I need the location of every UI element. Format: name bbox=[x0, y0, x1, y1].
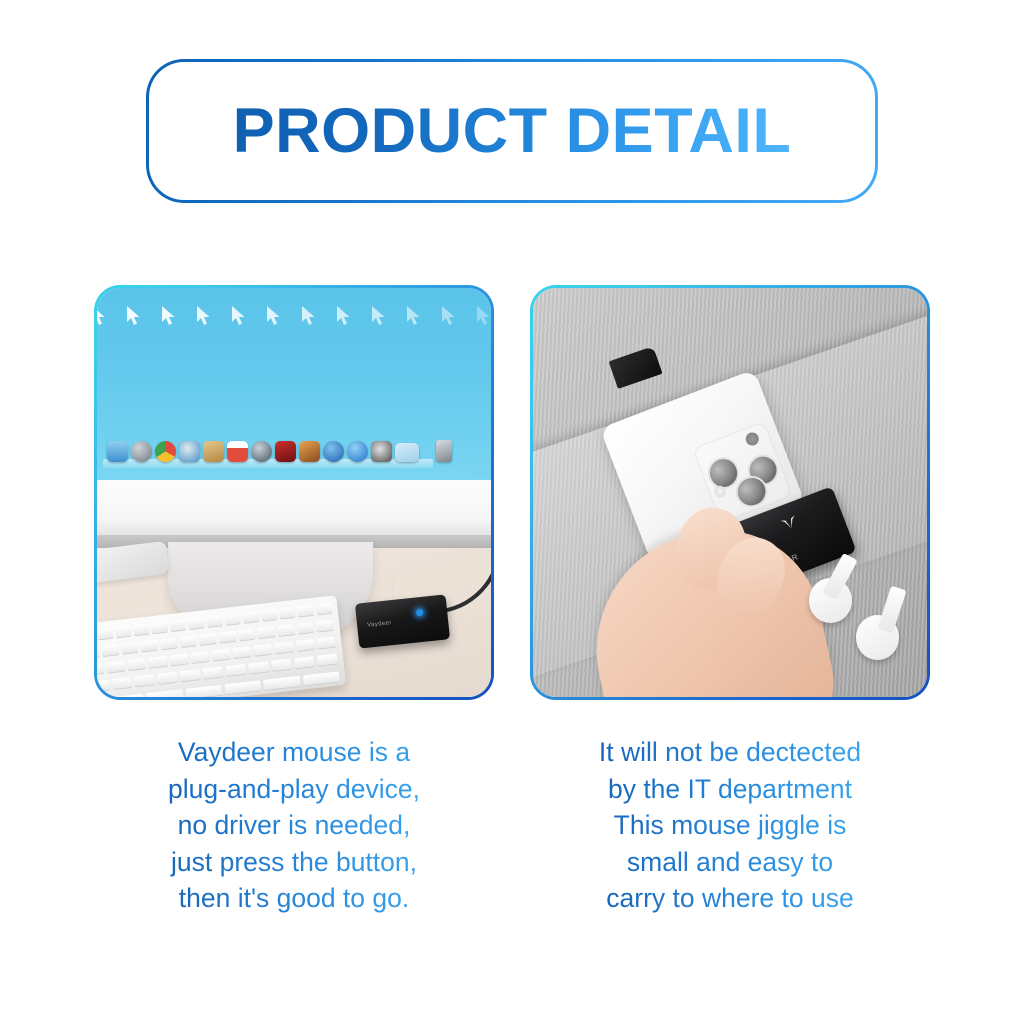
cursor-icon bbox=[266, 305, 281, 326]
cursor-icon bbox=[406, 305, 421, 326]
cursor-icon bbox=[371, 305, 386, 326]
cursor-icon bbox=[126, 305, 141, 326]
product-image-gallery: Vaydeer bbox=[94, 285, 930, 700]
caption-line: It will not be dectected bbox=[530, 734, 930, 771]
device-brand-label: Vaydeer bbox=[367, 620, 392, 629]
imac-screen bbox=[97, 288, 491, 480]
caption-line: by the IT department bbox=[530, 771, 930, 808]
cursor-icon bbox=[301, 305, 316, 326]
system-preferences-icon[interactable] bbox=[371, 441, 392, 462]
caption-right: It will not be dectected by the IT depar… bbox=[530, 734, 930, 917]
facetime-icon[interactable] bbox=[251, 441, 272, 462]
contacts-icon[interactable] bbox=[203, 441, 224, 462]
page-title-frame-inner: PRODUCT DETAIL bbox=[149, 62, 875, 200]
cursor-icon bbox=[231, 305, 246, 326]
product-image-right: VAYDEER bbox=[533, 288, 927, 697]
safari-icon[interactable] bbox=[179, 441, 200, 462]
calendar-icon[interactable] bbox=[227, 441, 248, 462]
cursor-icon bbox=[97, 305, 106, 326]
launchpad-icon[interactable] bbox=[131, 441, 152, 462]
cursor-icon bbox=[441, 305, 456, 326]
app-store-icon[interactable] bbox=[347, 441, 368, 462]
laptop-sleeve-scene: VAYDEER bbox=[533, 288, 927, 697]
caption-row: Vaydeer mouse is a plug-and-play device,… bbox=[94, 734, 930, 917]
page-title: PRODUCT DETAIL bbox=[233, 100, 792, 163]
caption-line: just press the button, bbox=[94, 844, 494, 881]
caption-line: small and easy to bbox=[530, 844, 930, 881]
caption-line: Vaydeer mouse is a bbox=[94, 734, 494, 771]
cursor-icon bbox=[336, 305, 351, 326]
caption-line: This mouse jiggle is bbox=[530, 807, 930, 844]
lidar-sensor-icon bbox=[743, 431, 760, 448]
finder-icon[interactable] bbox=[107, 441, 128, 462]
trash-icon[interactable] bbox=[436, 440, 452, 462]
page-title-frame: PRODUCT DETAIL bbox=[146, 59, 878, 203]
vaydeer-antler-logo-icon bbox=[779, 514, 800, 532]
caption-line: then it's good to go. bbox=[94, 880, 494, 917]
product-image-left: Vaydeer bbox=[97, 288, 491, 697]
chrome-icon[interactable] bbox=[155, 441, 176, 462]
photos-icon[interactable] bbox=[299, 441, 320, 462]
macos-dock[interactable] bbox=[107, 440, 452, 462]
folder-icon[interactable] bbox=[395, 443, 419, 462]
product-image-card-left[interactable]: Vaydeer bbox=[94, 285, 494, 700]
caption-line: carry to where to use bbox=[530, 880, 930, 917]
led-indicator bbox=[416, 609, 424, 617]
media-icon[interactable] bbox=[275, 441, 296, 462]
caption-line: plug-and-play device, bbox=[94, 771, 494, 808]
cursor-icon bbox=[196, 305, 211, 326]
product-image-card-right[interactable]: VAYDEER bbox=[530, 285, 930, 700]
cursor-arrow-row bbox=[97, 305, 491, 326]
cursor-icon bbox=[161, 305, 176, 326]
itunes-icon[interactable] bbox=[323, 441, 344, 462]
caption-left: Vaydeer mouse is a plug-and-play device,… bbox=[94, 734, 494, 917]
cursor-icon bbox=[476, 305, 491, 326]
mouse-jiggler-device: Vaydeer bbox=[355, 594, 450, 648]
caption-line: no driver is needed, bbox=[94, 807, 494, 844]
desk-scene: Vaydeer bbox=[97, 288, 491, 697]
